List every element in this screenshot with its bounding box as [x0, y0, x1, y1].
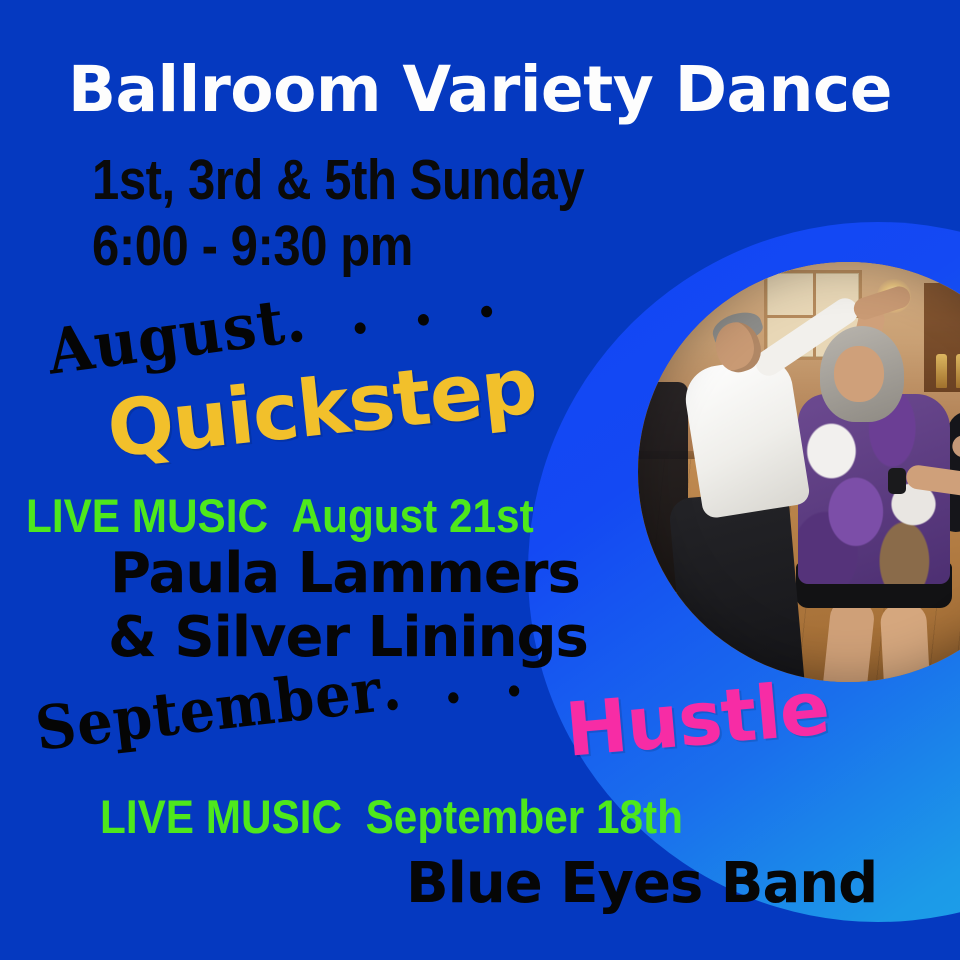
- dance-style-september: Hustle: [563, 671, 832, 768]
- scene-bottle: [936, 354, 947, 388]
- live-music-label-august: LIVE MUSIC: [26, 489, 268, 542]
- scene-shelf: [924, 283, 960, 392]
- photo-scene: [638, 262, 960, 682]
- live-music-august: LIVE MUSIC August 21st: [26, 492, 534, 539]
- scene-bottle: [956, 354, 960, 388]
- month-name-september: September: [32, 656, 385, 765]
- band-name-september-line1: Blue Eyes Band: [406, 856, 877, 912]
- lead-man-legs: [668, 489, 808, 682]
- lead-woman-wristwatch: [888, 468, 906, 494]
- live-music-september: LIVE MUSIC September 18th: [100, 793, 683, 840]
- live-music-label-september: LIVE MUSIC: [100, 790, 342, 843]
- schedule-time: 6:00 - 9:30 pm: [92, 218, 413, 275]
- poster-canvas: Ballroom Variety Dance 1st, 3rd & 5th Su…: [0, 0, 960, 960]
- live-music-date-september: September 18th: [366, 790, 683, 843]
- live-music-date-august: August 21st: [292, 489, 534, 542]
- dance-photo: [638, 262, 960, 682]
- lead-woman-head: [834, 346, 884, 402]
- band-name-august-line1: Paula Lammers: [110, 546, 580, 602]
- schedule-days: 1st, 3rd & 5th Sunday: [92, 152, 584, 209]
- page-title: Ballroom Variety Dance: [0, 58, 960, 121]
